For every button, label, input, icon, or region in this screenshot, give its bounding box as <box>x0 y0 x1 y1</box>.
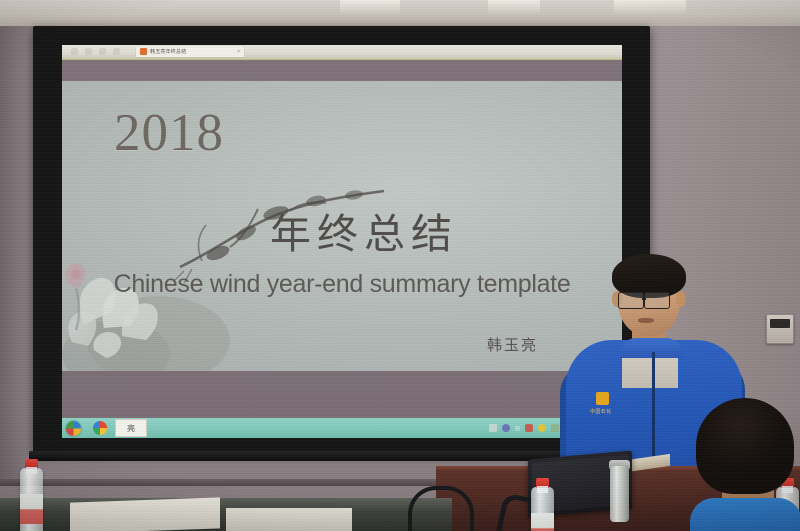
audience-hair <box>696 398 794 494</box>
jacket-logo-text: 中国石化 <box>590 408 612 415</box>
updown-icon[interactable] <box>515 426 520 431</box>
thermos <box>610 466 629 522</box>
back-icon[interactable] <box>71 48 78 55</box>
desk-papers <box>226 508 352 531</box>
forward-icon[interactable] <box>85 48 92 55</box>
power-cable <box>408 486 474 531</box>
slide-chinese-title: 年终总结 <box>270 214 458 255</box>
water-bottle <box>20 468 43 531</box>
close-icon[interactable]: × <box>237 49 240 55</box>
jacket-logo-icon <box>596 392 609 405</box>
browser-tab-bar: 韩玉亮年终总结 × <box>62 45 622 58</box>
tab-favicon <box>140 48 147 55</box>
home-icon[interactable] <box>113 48 120 55</box>
water-bottle <box>531 487 554 531</box>
audience-member <box>694 398 800 531</box>
left-wall-shadow <box>0 26 34 486</box>
refresh-icon[interactable] <box>99 48 106 55</box>
windows-taskbar[interactable]: 亮 15:20 2019/1/22 <box>62 418 622 438</box>
bluetooth-icon[interactable] <box>502 424 510 432</box>
presentation-room-photo: 韩玉亮年终总结 × <box>0 0 800 531</box>
slide-canvas: 2018 年终总结 Chinese wind year-end summary … <box>62 81 622 371</box>
slide-year: 2018 <box>114 107 224 160</box>
projection-screen-frame: 韩玉亮年终总结 × <box>33 26 650 453</box>
taskbar-item-active[interactable]: 亮 <box>115 419 147 437</box>
shield-icon[interactable] <box>538 424 546 432</box>
desk-papers <box>70 497 220 531</box>
bottle-neck <box>26 467 37 474</box>
slide-english-title: Chinese wind year-end summary template <box>74 269 610 300</box>
ceiling-light <box>340 0 400 14</box>
presenter-mouth <box>638 318 654 323</box>
antivirus-icon[interactable] <box>525 424 533 432</box>
presenter-collar <box>620 338 682 358</box>
wall-control-panel[interactable] <box>766 314 794 344</box>
audience-shirt <box>690 498 800 531</box>
bottle-neck <box>537 486 548 493</box>
slide-author: 韩玉亮 <box>487 334 538 355</box>
glasses-right-lens-icon <box>644 292 670 309</box>
ceiling-light <box>488 0 540 14</box>
browser-pinwheel-icon[interactable] <box>93 421 107 435</box>
browser-tab[interactable]: 韩玉亮年终总结 × <box>136 46 244 57</box>
glasses-left-lens-icon <box>618 292 644 309</box>
start-button-icon[interactable] <box>66 421 81 436</box>
bottle-label <box>20 494 43 524</box>
tab-title: 韩玉亮年终总结 <box>150 48 186 55</box>
bottle-label <box>531 513 554 531</box>
projected-desktop: 韩玉亮年终总结 × <box>62 45 622 438</box>
presenter-right-ear <box>676 291 686 307</box>
input-method-icon[interactable] <box>551 424 559 432</box>
ceiling-light <box>614 0 686 14</box>
browser-nav-buttons[interactable] <box>71 48 120 55</box>
hidden-icons-icon[interactable] <box>489 424 497 432</box>
glasses-bridge-icon <box>642 298 646 300</box>
